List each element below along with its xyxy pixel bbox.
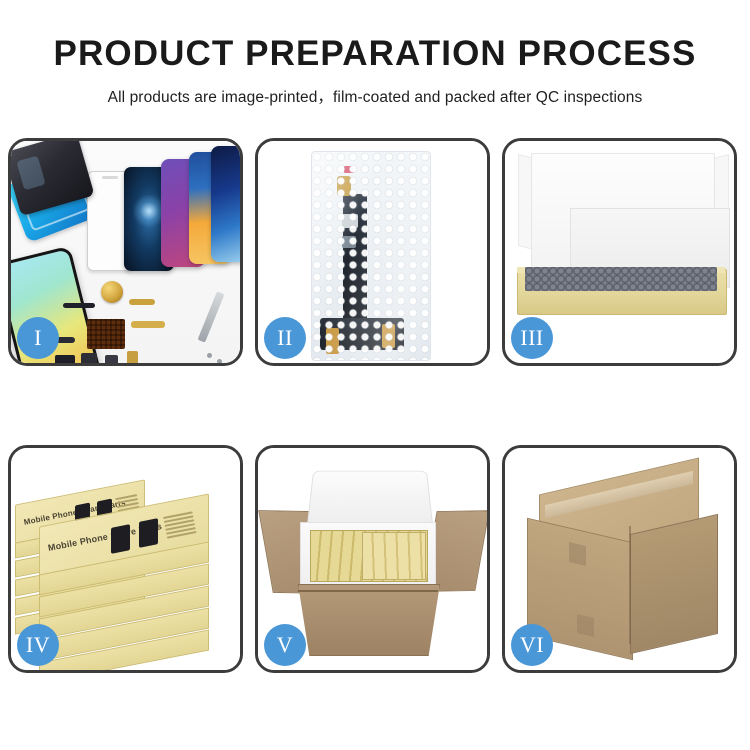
small-part-icon-3 [105,355,118,363]
packed-yellow-boxes-2 [362,532,426,580]
box-thumbnail-front-2 [139,518,158,548]
step-badge-4: IV [17,624,59,666]
flex-cable-icon-3 [131,321,165,328]
chip-grid-icon [87,319,125,349]
phone-screen-blue-icon [211,146,240,262]
step-badge-1: I [17,317,59,359]
process-steps-grid: I II [8,138,742,673]
flex-cable-icon-1 [63,303,95,308]
step-panel-6[interactable]: VI [502,445,737,673]
bubble-wrap-fill [525,267,717,291]
step-badge-6: VI [511,624,553,666]
page-title: PRODUCT PREPARATION PROCESS [0,36,750,71]
small-part-icon-4 [127,351,138,363]
plastic-sheen [312,152,430,360]
foam-box-lid [307,471,434,529]
page-subtitle: All products are image-printed，film-coat… [0,85,750,107]
small-part-icon-1 [55,355,75,363]
header: PRODUCT PREPARATION PROCESS All products… [0,0,750,107]
mailer-lid [531,153,715,273]
shipping-box-corner-seam [629,526,631,644]
step-panel-2[interactable]: II [255,138,490,366]
step-badge-2: II [264,317,306,359]
small-part-icon-2 [81,353,97,363]
step-panel-1[interactable]: I [8,138,243,366]
flex-cable-icon-2 [129,299,155,305]
step-badge-5: V [264,624,306,666]
carton-front-panel [298,584,440,656]
bubble-bag [311,151,431,361]
shipping-box-tab-1 [569,542,586,566]
step-panel-3[interactable]: III [502,138,737,366]
carton-front-edge [298,590,438,592]
step-panel-4[interactable]: Mobile Phone Spare Parts Mobile Phone Sp… [8,445,243,673]
step-panel-5[interactable]: V [255,445,490,673]
screw-icon-2 [217,359,222,363]
speaker-component-icon [101,281,123,303]
step-badge-3: III [511,317,553,359]
shipping-box-tab-2 [577,614,594,637]
screw-icon-1 [207,353,212,358]
shipping-box-right-face [630,514,718,654]
box-thumbnail-front-1 [111,524,130,554]
product-preparation-infographic: PRODUCT PREPARATION PROCESS All products… [0,0,750,750]
